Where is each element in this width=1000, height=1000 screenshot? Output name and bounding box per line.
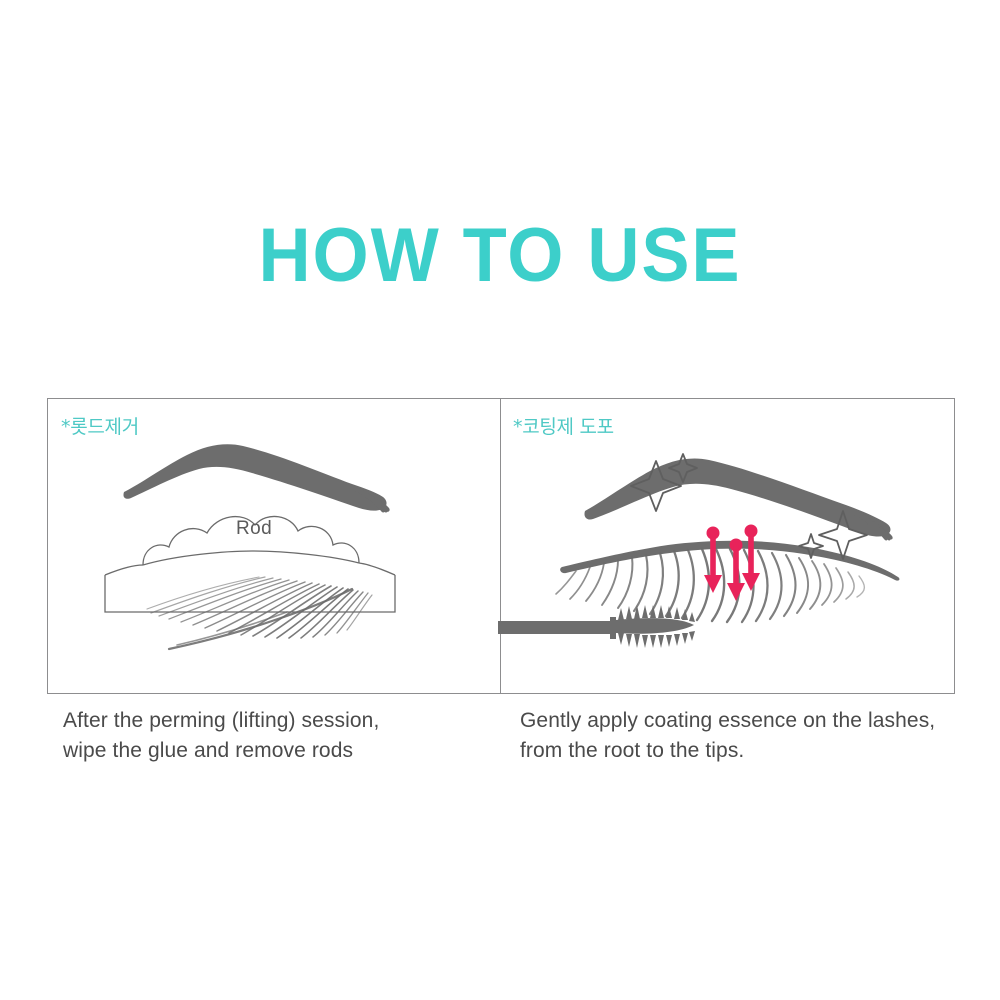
caption-remove-rod: After the perming (lifting) session, wip… <box>63 706 483 766</box>
caption-apply-coating: Gently apply coating essence on the lash… <box>520 706 960 766</box>
page-title: HOW TO USE <box>25 213 975 299</box>
eyebrow-shape <box>123 444 389 512</box>
rod-annotation-label: Rod <box>236 518 272 540</box>
direction-arrow <box>742 525 760 592</box>
how-to-use-page: HOW TO USE *롯드제거 *코팅제 도포 <box>0 0 1000 1000</box>
eyebrow-shape <box>584 458 892 540</box>
mascara-wand-shape <box>498 605 695 648</box>
lashes-on-rod <box>147 577 372 649</box>
direction-arrow-group <box>704 525 760 602</box>
